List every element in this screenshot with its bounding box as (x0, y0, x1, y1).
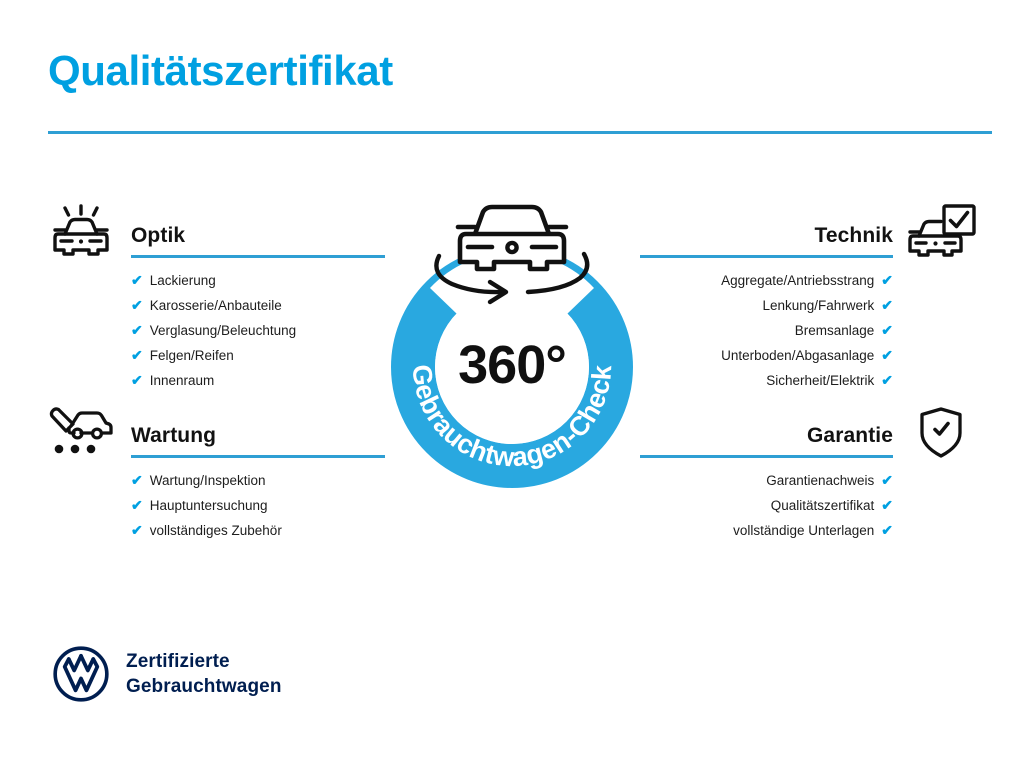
check-icon: ✔ (131, 468, 143, 492)
list-item-label: Lenkung/Fahrwerk (762, 298, 874, 313)
list-item-label: Wartung/Inspektion (150, 473, 266, 488)
vw-lockup-text: Zertifizierte Gebrauchtwagen (126, 649, 282, 699)
list-item-label: Hauptuntersuchung (150, 498, 268, 513)
section-header: Technik (632, 200, 977, 268)
list-item: ✔Karosserie/Anbauteile (131, 293, 385, 318)
list-item-label: Verglasung/Beleuchtung (150, 323, 296, 338)
section-divider (131, 455, 385, 458)
list-item: ✔vollständiges Zubehör (131, 518, 385, 543)
vw-logo (52, 645, 110, 703)
section-technik: Technik Aggregate/Antriebsstrang✔ Lenkun… (632, 200, 977, 393)
check-list: Aggregate/Antriebsstrang✔ Lenkung/Fahrwe… (632, 268, 893, 393)
section-header: Garantie (632, 400, 977, 468)
section-optik: Optik ✔Lackierung ✔Karosserie/Anbauteile… (45, 200, 385, 393)
list-item-label: Sicherheit/Elektrik (766, 373, 874, 388)
list-item: Qualitätszertifikat✔ (632, 493, 893, 518)
list-item: Garantienachweis✔ (632, 468, 893, 493)
list-item: ✔Wartung/Inspektion (131, 468, 385, 493)
list-item: vollständige Unterlagen✔ (632, 518, 893, 543)
list-item-label: Qualitätszertifikat (771, 498, 875, 513)
list-item: Lenkung/Fahrwerk✔ (632, 293, 893, 318)
list-item: ✔Hauptuntersuchung (131, 493, 385, 518)
list-item: ✔Verglasung/Beleuchtung (131, 318, 385, 343)
list-item: ✔Lackierung (131, 268, 385, 293)
vw-lockup-line2: Gebrauchtwagen (126, 676, 282, 697)
section-title: Technik (815, 224, 894, 248)
section-divider (131, 255, 385, 258)
list-item-label: vollständige Unterlagen (733, 523, 874, 538)
check-icon: ✔ (131, 293, 143, 317)
check-icon: ✔ (131, 318, 143, 342)
list-item: ✔Felgen/Reifen (131, 343, 385, 368)
list-item-label: Bremsanlage (795, 323, 875, 338)
page-title: Qualitätszertifikat (48, 48, 393, 94)
section-header: Wartung (45, 400, 385, 468)
section-garantie: Garantie Garantienachweis✔ Qualitätszert… (632, 400, 977, 543)
check-icon: ✔ (131, 343, 143, 367)
check-icon: ✔ (131, 493, 143, 517)
check-list: Garantienachweis✔ Qualitätszertifikat✔ v… (632, 468, 893, 543)
list-item: ✔Innenraum (131, 368, 385, 393)
vw-lockup-line1: Zertifizierte (126, 651, 230, 672)
title-divider (48, 131, 992, 134)
list-item-label: Felgen/Reifen (150, 348, 234, 363)
badge-center-label: 360° (378, 334, 646, 396)
list-item-label: Innenraum (150, 373, 215, 388)
check-icon: ✔ (131, 368, 143, 392)
car-front-shine-icon (45, 204, 117, 262)
list-item-label: Aggregate/Antriebsstrang (721, 273, 874, 288)
check-icon: ✔ (881, 268, 893, 292)
check-icon: ✔ (881, 293, 893, 317)
list-item: Sicherheit/Elektrik✔ (632, 368, 893, 393)
list-item: Bremsanlage✔ (632, 318, 893, 343)
wrench-car-service-icon (45, 404, 117, 462)
check-icon: ✔ (881, 493, 893, 517)
check-list: ✔Wartung/Inspektion ✔Hauptuntersuchung ✔… (131, 468, 385, 543)
list-item: Aggregate/Antriebsstrang✔ (632, 268, 893, 293)
list-item-label: Unterboden/Abgasanlage (721, 348, 874, 363)
check-icon: ✔ (881, 518, 893, 542)
vw-brand-lockup: Zertifizierte Gebrauchtwagen (52, 645, 282, 703)
list-item-label: Lackierung (150, 273, 216, 288)
section-title: Garantie (807, 424, 893, 448)
list-item-label: Garantienachweis (766, 473, 874, 488)
list-item-label: vollständiges Zubehör (150, 523, 282, 538)
check-icon: ✔ (881, 318, 893, 342)
section-divider (640, 455, 893, 458)
section-wartung: Wartung ✔Wartung/Inspektion ✔Hauptunters… (45, 400, 385, 543)
certificate-page: Qualitätszertifikat (0, 0, 1024, 768)
check-icon: ✔ (131, 518, 143, 542)
list-item: Unterboden/Abgasanlage✔ (632, 343, 893, 368)
gebrauchtwagen-check-badge: Gebrauchtwagen-Check 360° (378, 192, 646, 492)
check-icon: ✔ (881, 343, 893, 367)
section-title: Optik (131, 224, 185, 248)
check-list: ✔Lackierung ✔Karosserie/Anbauteile ✔Verg… (131, 268, 385, 393)
section-divider (640, 255, 893, 258)
check-icon: ✔ (881, 368, 893, 392)
check-icon: ✔ (881, 468, 893, 492)
list-item-label: Karosserie/Anbauteile (150, 298, 282, 313)
check-icon: ✔ (131, 268, 143, 292)
section-title: Wartung (131, 424, 216, 448)
shield-check-icon (905, 404, 977, 462)
section-header: Optik (45, 200, 385, 268)
car-front-checkbox-icon (905, 204, 977, 262)
